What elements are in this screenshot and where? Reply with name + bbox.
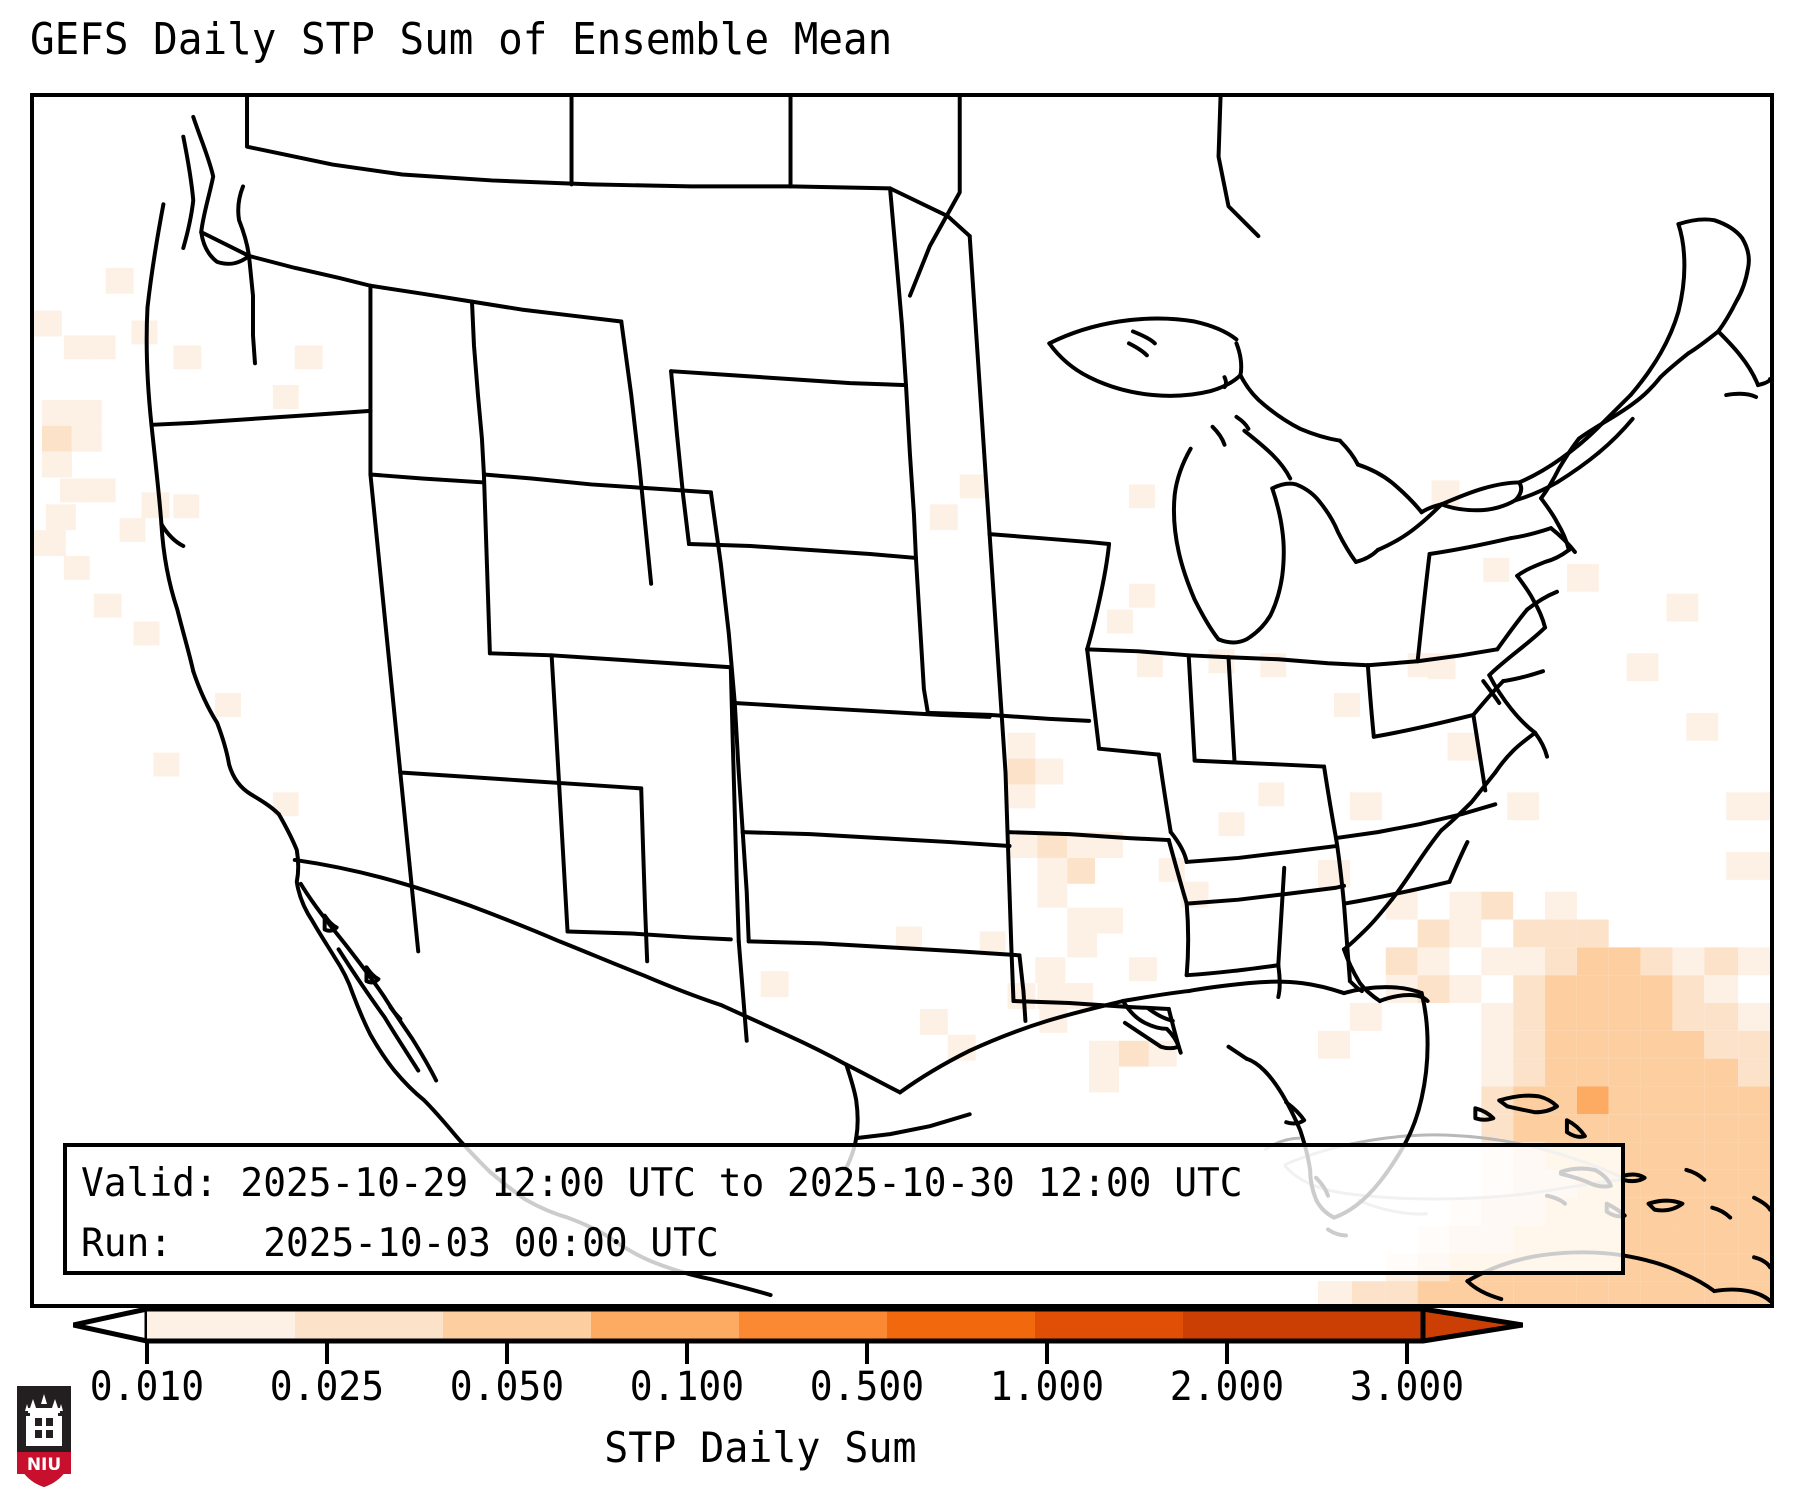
colorbar-tick-label: 2.000: [1170, 1364, 1284, 1410]
colorbar-tick: [145, 1342, 149, 1364]
niu-logo-graphic: NIU: [13, 1382, 75, 1490]
colorbar-tick: [505, 1342, 509, 1364]
colorbar-tick: [1225, 1342, 1229, 1364]
page-title: GEFS Daily STP Sum of Ensemble Mean: [30, 14, 892, 65]
colorbar-tick-label: 0.010: [90, 1364, 204, 1410]
colorbar-tick-label: 3.000: [1350, 1364, 1464, 1410]
colorbar-tick: [685, 1342, 689, 1364]
niu-shield-logo: NIU: [13, 1382, 75, 1490]
colorbar-tick-label: 1.000: [990, 1364, 1104, 1410]
colorbar-tick-labels: 0.010 0.025 0.050 0.100 0.500 1.000 2.00…: [0, 1364, 1803, 1418]
map-panel[interactable]: [30, 93, 1774, 1308]
colorbar-tick-label: 0.025: [270, 1364, 384, 1410]
colorbar-tick: [865, 1342, 869, 1364]
colorbar-tick: [1045, 1342, 1049, 1364]
forecast-map-figure: GEFS Daily STP Sum of Ensemble Mean: [0, 0, 1803, 1500]
colorbar-tickmarks: [0, 1342, 1803, 1366]
colorbar[interactable]: [73, 1305, 1523, 1345]
colorbar-tick: [1405, 1342, 1409, 1364]
colorbar-tick: [325, 1342, 329, 1364]
map-canvas: [34, 97, 1770, 1304]
colorbar-axis-label-text: STP Daily Sum: [604, 1423, 916, 1472]
niu-banner-text: NIU: [27, 1455, 61, 1475]
colorbar-tick-label: 0.100: [630, 1364, 744, 1410]
colorbar-axis-label: STP Daily Sum: [0, 1423, 1520, 1472]
forecast-info-box: Valid: 2025-10-29 12:00 UTC to 2025-10-3…: [63, 1143, 1625, 1275]
colorbar-tick-label: 0.050: [450, 1364, 564, 1410]
valid-time-row: Valid: 2025-10-29 12:00 UTC to 2025-10-3…: [81, 1154, 1561, 1214]
colorbar-swatches: [73, 1305, 1523, 1345]
run-time-row: Run: 2025-10-03 00:00 UTC: [81, 1214, 1561, 1274]
colorbar-tick-label: 0.500: [810, 1364, 924, 1410]
